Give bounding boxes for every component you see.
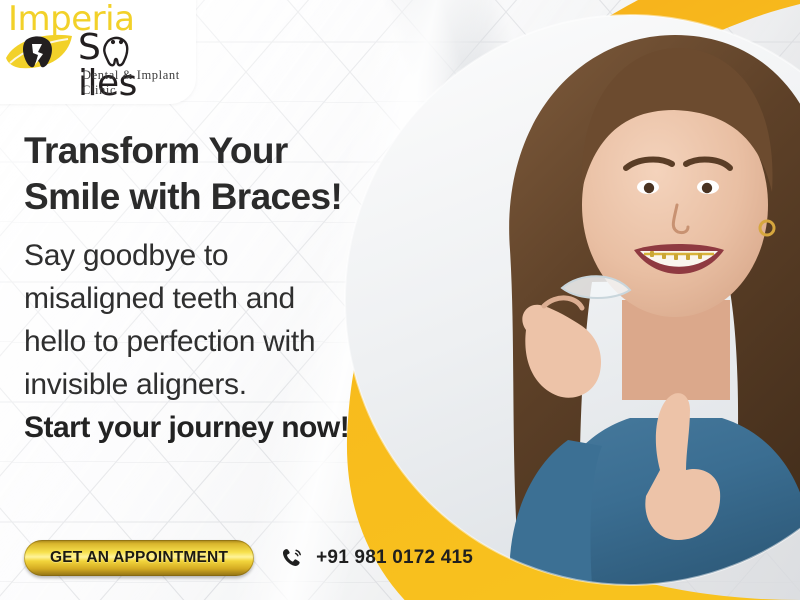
tooth-letter-icon [102, 36, 132, 68]
footer-actions: GET AN APPOINTMENT +91 981 0172 415 [24, 540, 473, 576]
phone-ringing-icon [280, 546, 304, 570]
tooth-leaf-logo-icon [2, 32, 78, 72]
body-emphasis: Start your journey now! [24, 411, 349, 444]
logo-card[interactable]: Imperia Siles Dental & Implant Clinic [0, 0, 196, 104]
hero-copy: Transform Your Smile with Braces! Say go… [24, 128, 444, 449]
body-line-2: misaligned teeth and [24, 282, 295, 315]
page-title: Transform Your Smile with Braces! [24, 128, 444, 220]
advertisement-banner: Imperia Siles Dental & Implant Clinic Tr… [0, 0, 800, 600]
headline-line-2: Smile with Braces! [24, 176, 342, 217]
logo-tagline: Dental & Implant Clinic [82, 68, 186, 98]
headline-line-1: Transform Your [24, 130, 288, 171]
phone-contact[interactable]: +91 981 0172 415 [280, 546, 473, 570]
hero-body-text: Say goodbye to misaligned teeth and hell… [24, 234, 444, 449]
body-line-1: Say goodbye to [24, 239, 228, 272]
body-line-4: invisible aligners. [24, 368, 247, 401]
logo-inner: Imperia Siles Dental & Implant Clinic [6, 6, 186, 86]
get-an-appointment-button[interactable]: GET AN APPOINTMENT [24, 540, 254, 576]
body-line-3: hello to perfection with [24, 325, 315, 358]
phone-number: +91 981 0172 415 [316, 547, 473, 569]
